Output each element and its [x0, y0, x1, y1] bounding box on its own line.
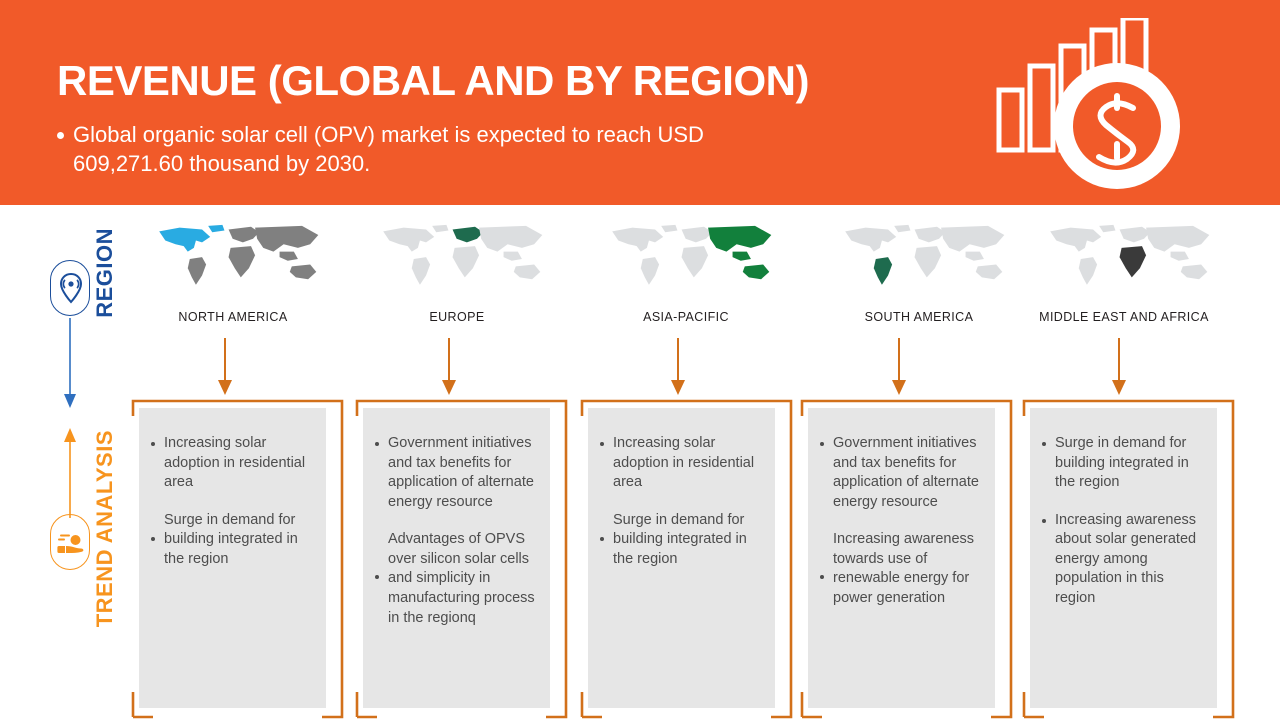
- bullet-text: Surge in demand for building integrated …: [1055, 434, 1203, 493]
- card-panel-1: Increasing solar adoption in residential…: [139, 408, 326, 708]
- list-item: Surge in demand for building integrated …: [598, 511, 761, 570]
- region-column-5: MIDDLE EAST AND AFRICA: [1024, 218, 1224, 324]
- page-title: REVENUE (GLOBAL AND BY REGION): [57, 57, 809, 105]
- bullet-dot-icon: [375, 442, 379, 446]
- list-item: Increasing awareness about solar generat…: [1040, 511, 1203, 609]
- bullet-text: Government initiatives and tax benefits …: [833, 434, 981, 512]
- connector-arrow-5: [1111, 338, 1127, 396]
- sidebar-label-trend-analysis: TREND ANALYSIS: [92, 430, 118, 627]
- card-panel-2: Government initiatives and tax benefits …: [363, 408, 550, 708]
- region-label-4: SOUTH AMERICA: [819, 310, 1019, 324]
- region-column-1: NORTH AMERICA: [133, 218, 333, 324]
- connector-arrow-3: [670, 338, 686, 396]
- region-label-1: NORTH AMERICA: [133, 310, 333, 324]
- world-map-europe-highlighted: [371, 218, 543, 300]
- card-bullet-list: Surge in demand for building integrated …: [1030, 408, 1217, 637]
- region-down-arrow-icon: [62, 318, 78, 410]
- bullet-text: Advantages of OPVS over silicon solar ce…: [388, 530, 536, 628]
- list-item: Surge in demand for building integrated …: [1040, 434, 1203, 493]
- trend-analysis-icon-container: [50, 514, 90, 570]
- bullet-text: Surge in demand for building integrated …: [613, 511, 761, 570]
- region-column-3: ASIA-PACIFIC: [586, 218, 786, 324]
- bullet-dot-icon: [600, 537, 604, 541]
- list-item: Increasing solar adoption in residential…: [149, 434, 312, 493]
- list-item: Government initiatives and tax benefits …: [373, 434, 536, 512]
- region-label-2: EUROPE: [357, 310, 557, 324]
- bullet-dot-icon: [600, 442, 604, 446]
- trend-card-4: Government initiatives and tax benefits …: [800, 398, 1013, 720]
- bullet-text: Surge in demand for building integrated …: [164, 511, 312, 570]
- region-column-2: EUROPE: [357, 218, 557, 324]
- card-bullet-list: Government initiatives and tax benefits …: [808, 408, 995, 637]
- trend-card-5: Surge in demand for building integrated …: [1022, 398, 1235, 720]
- bar-chart-dollar-coin-icon: [985, 18, 1200, 196]
- card-bullet-list: Increasing solar adoption in residential…: [139, 408, 326, 597]
- region-icon-container: [50, 260, 90, 316]
- list-item: Increasing solar adoption in residential…: [598, 434, 761, 493]
- location-pin-icon: [51, 261, 91, 317]
- bullet-text: Increasing awareness towards use of rene…: [833, 530, 981, 608]
- region-label-5: MIDDLE EAST AND AFRICA: [1024, 310, 1224, 324]
- world-map-mea-highlighted: [1038, 218, 1210, 300]
- world-map-asia-pacific-highlighted: [600, 218, 772, 300]
- card-bullet-list: Government initiatives and tax benefits …: [363, 408, 550, 656]
- hand-holding-coin-icon: [51, 515, 91, 571]
- bullet-text: Increasing solar adoption in residential…: [164, 434, 312, 493]
- list-item: Increasing awareness towards use of rene…: [818, 530, 981, 608]
- bullet-dot-icon: [1042, 519, 1046, 523]
- connector-arrow-1: [217, 338, 233, 396]
- bullet-text: Increasing awareness about solar generat…: [1055, 511, 1203, 609]
- bullet-dot-icon: [820, 575, 824, 579]
- trend-up-arrow-icon: [62, 428, 78, 518]
- bullet-text: Increasing solar adoption in residential…: [613, 434, 761, 493]
- list-item: Surge in demand for building integrated …: [149, 511, 312, 570]
- bullet-dot-icon: [375, 575, 379, 579]
- header-banner: REVENUE (GLOBAL AND BY REGION) Global or…: [0, 0, 1280, 205]
- trend-card-3: Increasing solar adoption in residential…: [580, 398, 793, 720]
- card-panel-3: Increasing solar adoption in residential…: [588, 408, 775, 708]
- bullet-dot-icon: [151, 537, 155, 541]
- card-panel-5: Surge in demand for building integrated …: [1030, 408, 1217, 708]
- bullet-dot-icon: [151, 442, 155, 446]
- card-bullet-list: Increasing solar adoption in residential…: [588, 408, 775, 597]
- list-item: Government initiatives and tax benefits …: [818, 434, 981, 512]
- header-subtitle-row: Global organic solar cell (OPV) market i…: [57, 120, 817, 179]
- bullet-dot-icon: [57, 132, 64, 139]
- sidebar-label-region: REGION: [92, 228, 118, 318]
- world-map-north-america-highlighted: [147, 218, 319, 300]
- list-item: Advantages of OPVS over silicon solar ce…: [373, 530, 536, 628]
- bullet-dot-icon: [820, 442, 824, 446]
- region-column-4: SOUTH AMERICA: [819, 218, 1019, 324]
- header-subtitle: Global organic solar cell (OPV) market i…: [73, 120, 817, 179]
- connector-arrow-2: [441, 338, 457, 396]
- region-label-3: ASIA-PACIFIC: [586, 310, 786, 324]
- card-panel-4: Government initiatives and tax benefits …: [808, 408, 995, 708]
- trend-card-2: Government initiatives and tax benefits …: [355, 398, 568, 720]
- trend-card-1: Increasing solar adoption in residential…: [131, 398, 344, 720]
- bullet-dot-icon: [1042, 442, 1046, 446]
- connector-arrow-4: [891, 338, 907, 396]
- bullet-text: Government initiatives and tax benefits …: [388, 434, 536, 512]
- world-map-south-america-highlighted: [833, 218, 1005, 300]
